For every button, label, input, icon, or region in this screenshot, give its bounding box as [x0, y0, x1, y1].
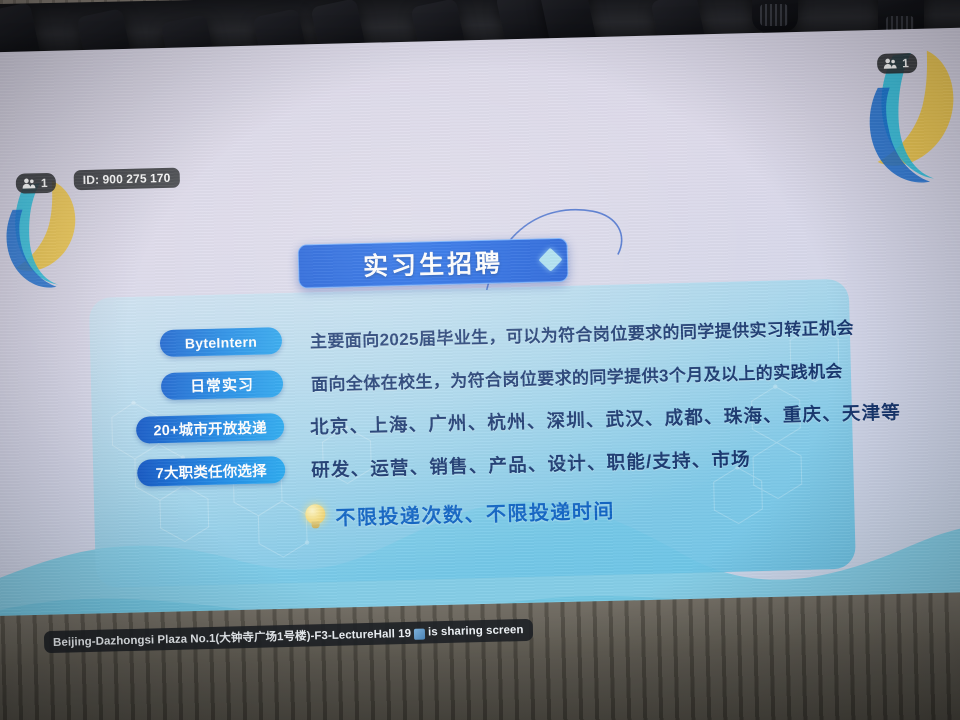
- participant-count-badge-right[interactable]: 1: [877, 53, 917, 74]
- row-label-text: 20+城市开放投递: [153, 416, 267, 440]
- photo-scene: 1 ID: 900 275 170 1: [0, 0, 960, 720]
- lightbulb-icon: [304, 503, 327, 530]
- row-label-text: 日常实习: [190, 374, 255, 397]
- meeting-id-badge[interactable]: ID: 900 275 170: [74, 168, 180, 191]
- people-icon: [22, 177, 36, 189]
- slide-title-banner: 实习生招聘: [298, 238, 569, 289]
- row-label-pill: 20+城市开放投递: [136, 413, 285, 444]
- participant-count-badge-left[interactable]: 1: [16, 173, 56, 194]
- slide-title: 实习生招聘: [363, 243, 504, 283]
- sharing-status-text: is sharing screen: [428, 624, 524, 638]
- row-label-text: 7大职类任你选择: [155, 459, 267, 483]
- participant-count-left: 1: [41, 176, 48, 190]
- projection-screen: 1 ID: 900 275 170 1: [0, 27, 960, 652]
- stage-light: [752, 0, 798, 32]
- people-icon: [883, 57, 897, 69]
- row-label-pill: ByteIntern: [160, 327, 283, 357]
- participant-count-right: 1: [902, 56, 909, 70]
- row-label-text: ByteIntern: [185, 333, 258, 351]
- row-label-pill: 日常实习: [161, 370, 284, 400]
- screen-share-icon: [414, 628, 425, 639]
- row-label-pill: 7大职类任你选择: [137, 456, 286, 487]
